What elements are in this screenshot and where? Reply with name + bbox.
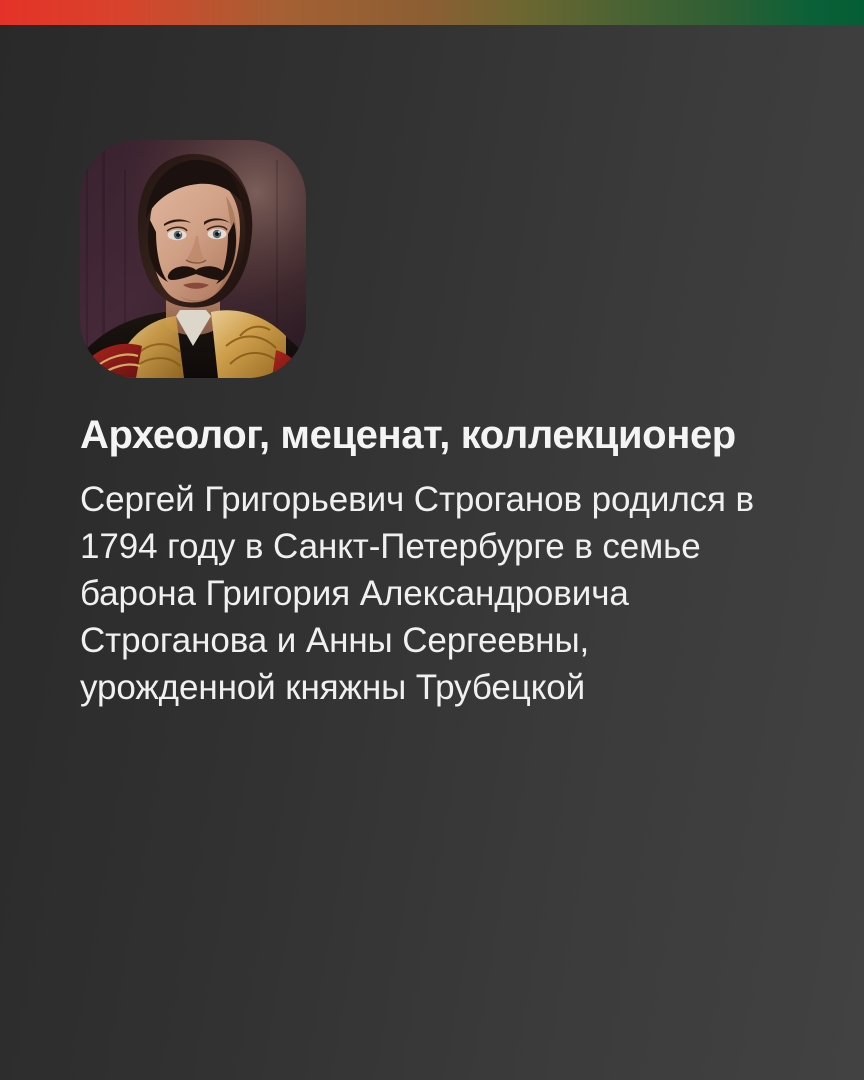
portrait-avatar[interactable]: [80, 140, 306, 378]
page-title: Археолог, меценат, коллекционер: [80, 378, 784, 458]
top-gradient-bar: [0, 0, 864, 25]
card-content: Археолог, меценат, коллекционер Сергей Г…: [80, 140, 784, 711]
biography-paragraph: Сергей Григорьевич Строганов родился в 1…: [80, 458, 784, 711]
card-page: Археолог, меценат, коллекционер Сергей Г…: [0, 0, 864, 1080]
